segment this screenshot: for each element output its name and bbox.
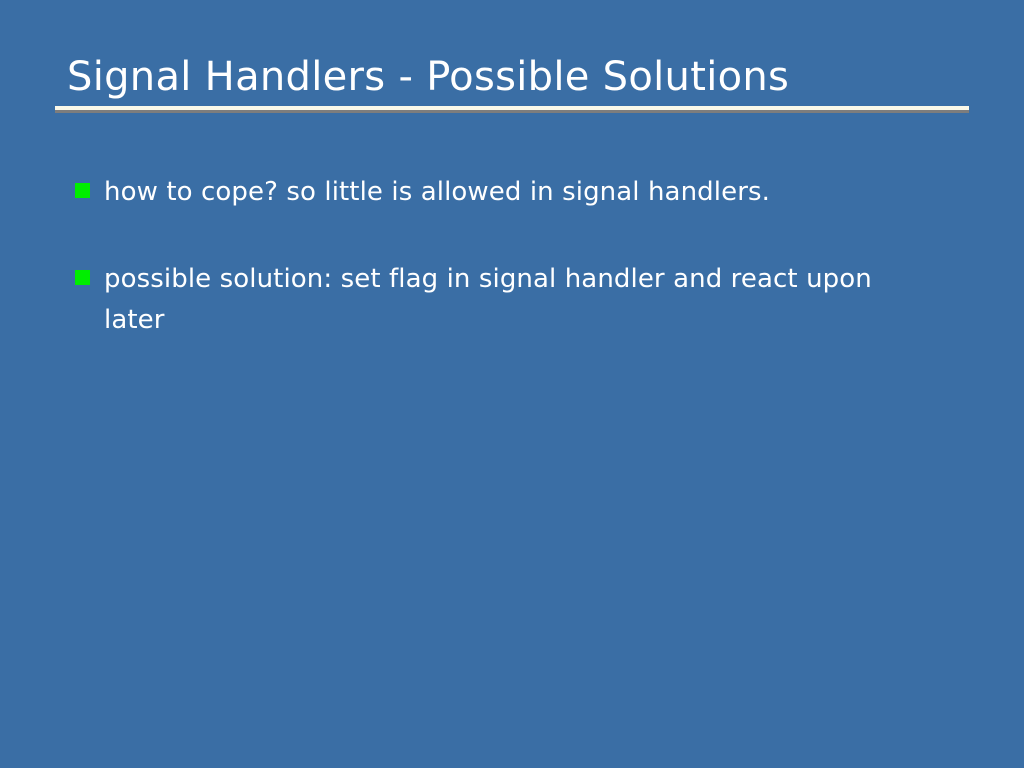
title-block: Signal Handlers - Possible Solutions [55,52,969,110]
list-item: how to cope? so little is allowed in sig… [75,172,955,213]
bullet-list: how to cope? so little is allowed in sig… [75,172,955,387]
page-title: Signal Handlers - Possible Solutions [55,52,969,102]
green-square-bullet-icon [75,183,90,198]
list-item-label: how to cope? so little is allowed in sig… [104,172,955,213]
presentation-slide: Signal Handlers - Possible Solutions how… [0,0,1024,768]
list-item: possible solution: set flag in signal ha… [75,259,955,341]
title-divider [55,106,969,110]
list-item-label: possible solution: set flag in signal ha… [104,259,934,341]
green-square-bullet-icon [75,270,90,285]
